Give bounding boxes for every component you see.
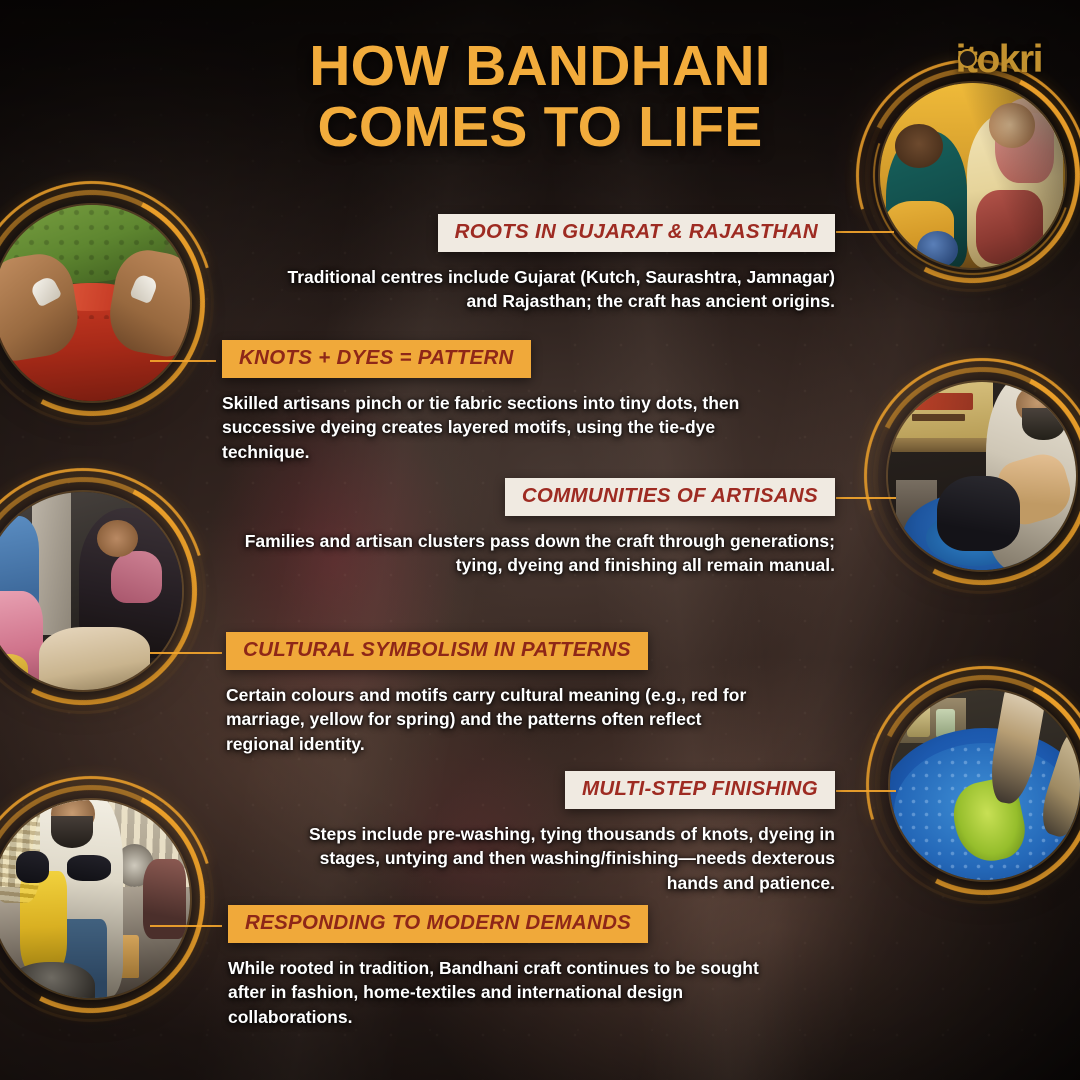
brand-logo-text-wrap: itokri: [956, 40, 1042, 79]
section-heading-communities[interactable]: COMMUNITIES OF ARTISANS: [505, 478, 835, 516]
infographic-poster: HOW BANDHANI COMES TO LIFE itokri: [0, 0, 1080, 1080]
photo-image-b: [0, 205, 190, 401]
connector-line-knots: [150, 360, 216, 362]
brand-logo[interactable]: itokri: [956, 40, 1042, 79]
connector-line-roots: [836, 231, 894, 233]
photo-artisan-women-doorway: [0, 492, 182, 690]
section-body-communities: Families and artisan clusters pass down …: [230, 529, 835, 579]
connector-line-modern: [150, 925, 222, 927]
photo-dyer-blue-tub: [888, 382, 1076, 570]
section-symbolism: CULTURAL SYMBOLISM IN PATTERNS Certain c…: [226, 632, 796, 757]
photo-man-lifting-yellow-skein: [0, 800, 190, 998]
section-heading-modern[interactable]: RESPONDING TO MODERN DEMANDS: [228, 905, 648, 943]
photo-image-e: [890, 690, 1080, 880]
photo-women-tying-yellow-room: [880, 83, 1065, 268]
section-modern: RESPONDING TO MODERN DEMANDS While roote…: [228, 905, 798, 1030]
section-body-symbolism: Certain colours and motifs carry cultura…: [226, 683, 761, 758]
photo-blue-dye-vat: [890, 690, 1080, 880]
photo-image-f: [0, 800, 190, 998]
section-body-modern: While rooted in tradition, Bandhani craf…: [228, 956, 776, 1031]
section-body-knots-dyes: Skilled artisans pinch or tie fabric sec…: [222, 391, 752, 466]
connector-line-communities: [836, 497, 896, 499]
photo-image-d: [888, 382, 1076, 570]
section-heading-finishing[interactable]: MULTI-STEP FINISHING: [565, 771, 835, 809]
connector-line-symbolism: [150, 652, 222, 654]
section-heading-knots-dyes[interactable]: KNOTS + DYES = PATTERN: [222, 340, 531, 378]
photo-image-a: [880, 83, 1065, 268]
section-knots-dyes: KNOTS + DYES = PATTERN Skilled artisans …: [222, 340, 782, 465]
photo-image-c: [0, 492, 182, 690]
section-heading-symbolism[interactable]: CULTURAL SYMBOLISM IN PATTERNS: [226, 632, 648, 670]
section-body-finishing: Steps include pre-washing, tying thousan…: [307, 822, 835, 897]
logo-dot-icon: [958, 49, 977, 68]
photo-hands-tying-red-fabric: [0, 205, 190, 401]
section-body-roots: Traditional centres include Gujarat (Kut…: [270, 265, 835, 315]
section-heading-roots[interactable]: ROOTS IN GUJARAT & RAJASTHAN: [438, 214, 835, 252]
connector-line-finishing: [836, 790, 896, 792]
